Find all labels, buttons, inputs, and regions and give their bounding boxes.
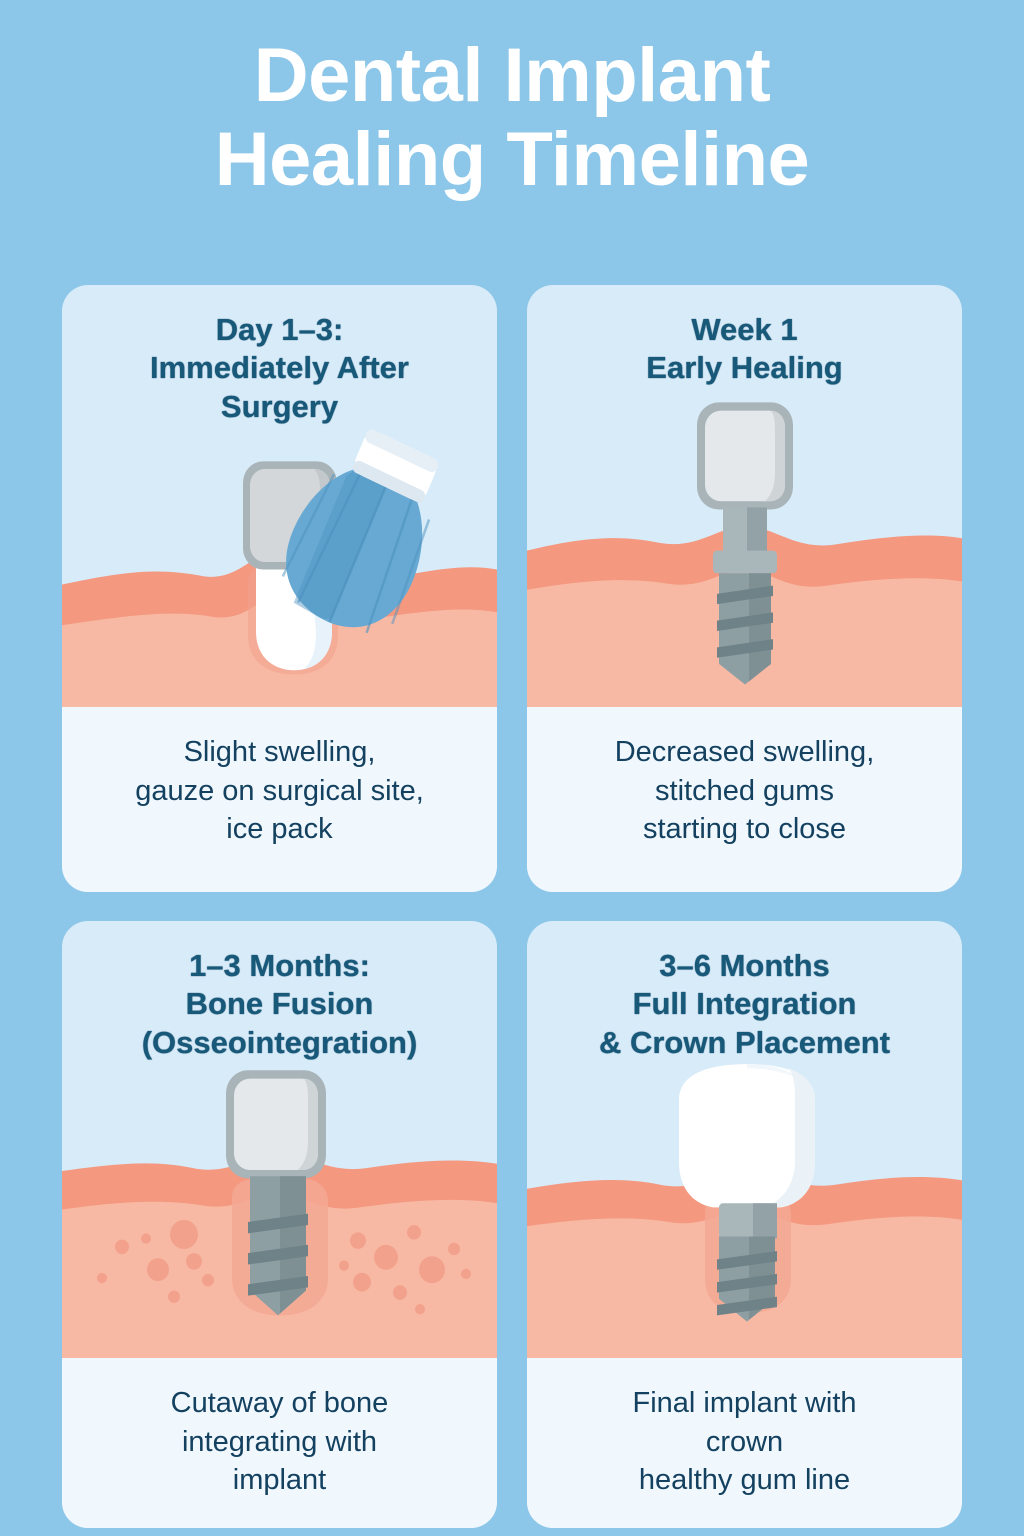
- caption-line-2: integrating with: [82, 1423, 477, 1462]
- card-heading: 1–3 Months: Bone Fusion (Osseointegratio…: [62, 921, 497, 1062]
- card-heading: 3–6 Months Full Integration & Crown Plac…: [527, 921, 962, 1062]
- infographic-root: Dental Implant Healing Timeline Day 1–3:…: [0, 0, 1024, 1536]
- card-title-line-2: Early Healing: [545, 349, 944, 387]
- illustration-implant-with-crown: [527, 1062, 962, 1358]
- card-title-line-1: Day 1–3:: [80, 311, 479, 349]
- card-title-line-2: Full Integration: [545, 985, 944, 1023]
- caption-line-1: Cutaway of bone: [82, 1384, 477, 1423]
- card-title-line-3: & Crown Placement: [545, 1024, 944, 1062]
- caption-line-3: starting to close: [547, 810, 942, 849]
- card-caption: Decreased swelling, stitched gums starti…: [527, 707, 962, 892]
- page-title-line-2: Healing Timeline: [0, 118, 1024, 202]
- timeline-card-week-1[interactable]: Week 1 Early Healing: [527, 285, 962, 892]
- timeline-card-months-3-6[interactable]: 3–6 Months Full Integration & Crown Plac…: [527, 921, 962, 1528]
- card-title-line-1: Week 1: [545, 311, 944, 349]
- caption-line-1: Final implant with: [547, 1384, 942, 1423]
- caption-line-2: stitched gums: [547, 772, 942, 811]
- card-heading: Day 1–3: Immediately After Surgery: [62, 285, 497, 426]
- card-title-line-2: Immediately After: [80, 349, 479, 387]
- illustration-implant-screw-in-gum: [527, 388, 962, 707]
- card-title-line-3: Surgery: [80, 388, 479, 426]
- card-title-line-1: 1–3 Months:: [80, 947, 479, 985]
- caption-line-2: crown: [547, 1423, 942, 1462]
- caption-line-1: Decreased swelling,: [547, 733, 942, 772]
- card-heading: Week 1 Early Healing: [527, 285, 962, 388]
- page-title: Dental Implant Healing Timeline: [0, 34, 1024, 201]
- caption-line-3: healthy gum line: [547, 1461, 942, 1500]
- caption-line-2: gauze on surgical site,: [82, 772, 477, 811]
- timeline-card-months-1-3[interactable]: 1–3 Months: Bone Fusion (Osseointegratio…: [62, 921, 497, 1528]
- card-title-line-2: Bone Fusion: [80, 985, 479, 1023]
- card-caption: Slight swelling, gauze on surgical site,…: [62, 707, 497, 892]
- timeline-card-day-1-3[interactable]: Day 1–3: Immediately After Surgery: [62, 285, 497, 892]
- card-title-line-1: 3–6 Months: [545, 947, 944, 985]
- caption-line-1: Slight swelling,: [82, 733, 477, 772]
- card-caption: Final implant with crown healthy gum lin…: [527, 1358, 962, 1528]
- page-title-line-1: Dental Implant: [0, 34, 1024, 118]
- card-title-line-3: (Osseointegration): [80, 1024, 479, 1062]
- illustration-healing-cap-gauze-ice-pack: [62, 426, 497, 707]
- caption-line-3: implant: [82, 1461, 477, 1500]
- card-caption: Cutaway of bone integrating with implant: [62, 1358, 497, 1528]
- timeline-card-grid: Day 1–3: Immediately After Surgery: [62, 285, 962, 1528]
- caption-line-3: ice pack: [82, 810, 477, 849]
- illustration-implant-bone-cutaway: [62, 1062, 497, 1358]
